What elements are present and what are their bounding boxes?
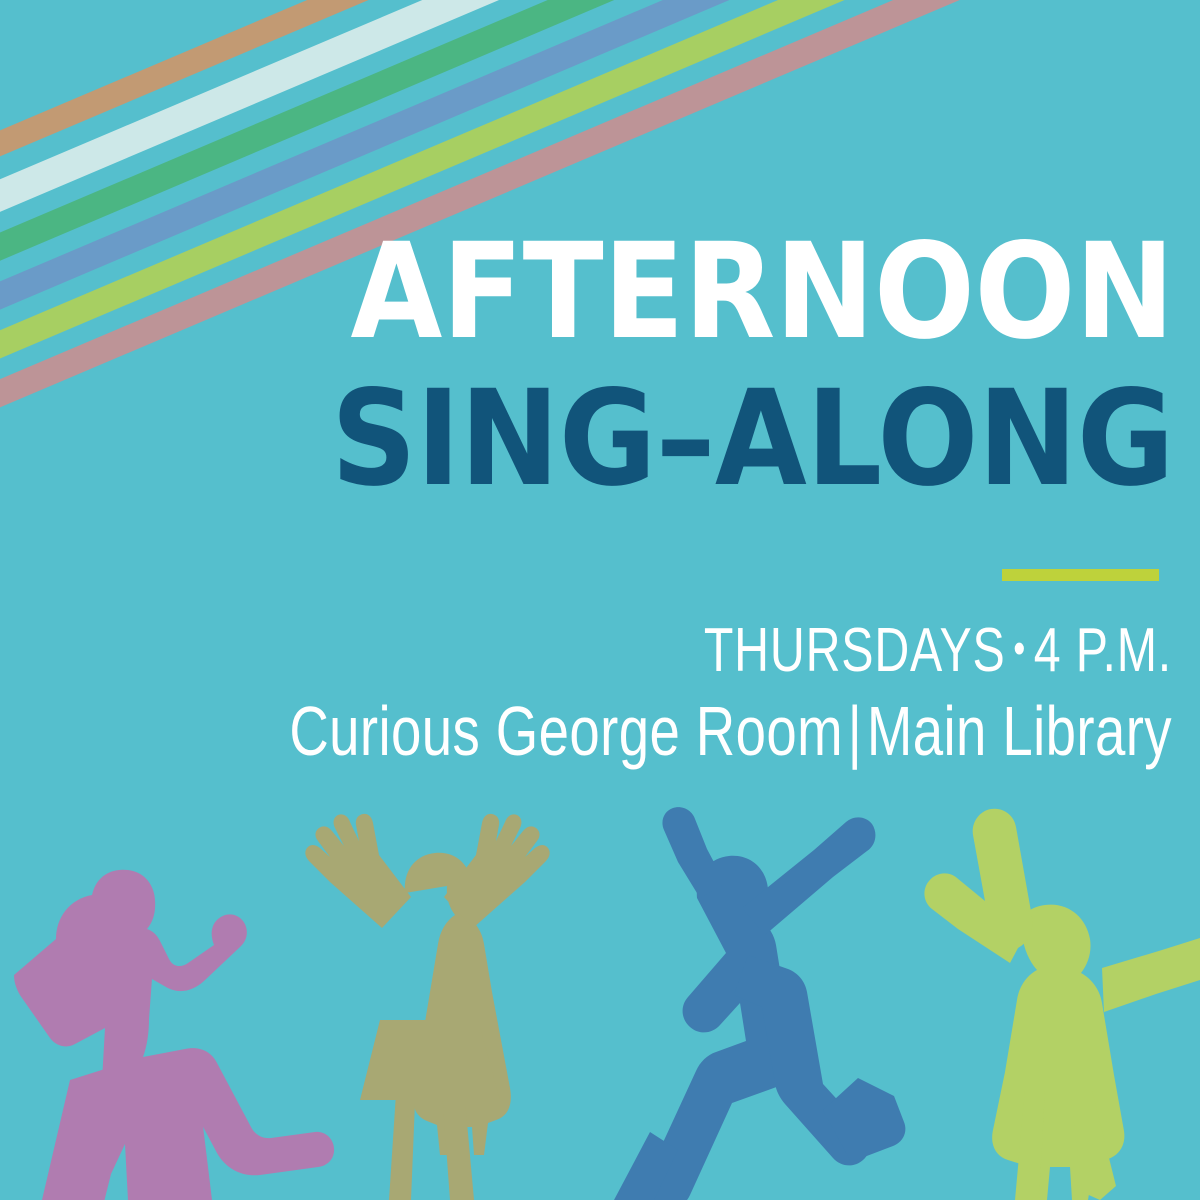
event-poster: AFTERNOON SING–ALONG THURSDAYS•4 P.M. Cu… <box>0 0 1200 1200</box>
stripes-svg <box>0 0 1200 1200</box>
headline-line-1: AFTERNOON <box>117 228 1174 357</box>
event-building: Main Library <box>867 692 1172 770</box>
silhouettes-svg <box>0 0 1200 1200</box>
children-silhouettes <box>0 0 1200 1200</box>
poster-headline: AFTERNOON SING–ALONG <box>0 228 1174 505</box>
event-room: Curious George Room <box>289 692 843 770</box>
bullet-separator-icon: • <box>1006 625 1034 673</box>
child-arms-up-silhouette <box>305 814 549 1200</box>
child-cartwheel-silhouette <box>924 809 1200 1200</box>
child-running-silhouette <box>14 870 334 1200</box>
event-time: 4 P.M. <box>1034 616 1172 685</box>
child-jumping-silhouette <box>614 807 905 1200</box>
headline-line-2: SING–ALONG <box>117 375 1174 504</box>
event-where-line: Curious George Room|Main Library <box>258 696 1172 766</box>
diagonal-stripes-decoration <box>0 0 1200 1200</box>
accent-rule <box>1002 569 1159 581</box>
event-when-line: THURSDAYS•4 P.M. <box>258 620 1172 682</box>
pipe-separator-icon: | <box>843 692 867 770</box>
event-details: THURSDAYS•4 P.M. Curious George Room|Mai… <box>0 620 1172 766</box>
event-day: THURSDAYS <box>704 616 1006 685</box>
